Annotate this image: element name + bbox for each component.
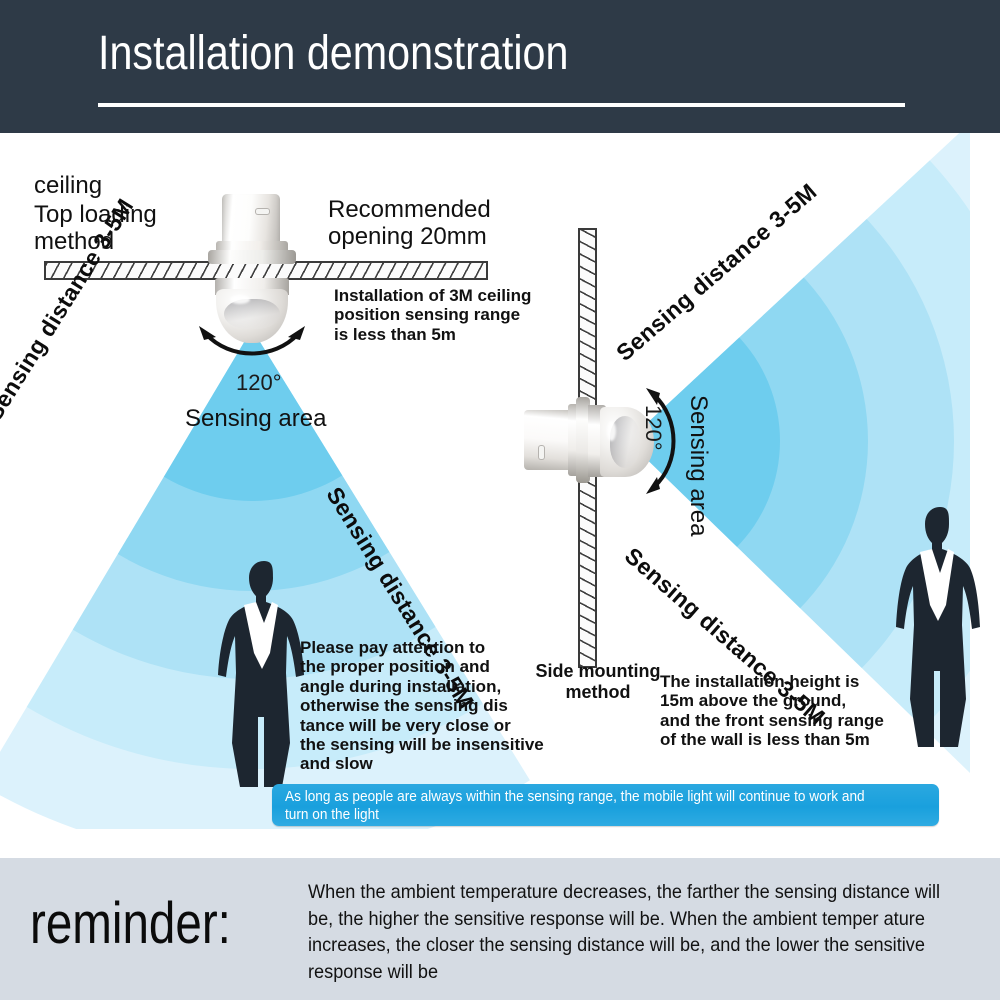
reminder-footer: reminder: When the ambient temperature d… xyxy=(0,858,1000,1000)
ceiling-sensor-flange xyxy=(208,250,296,264)
ceiling-mount-diagram: 120° Sensing area Sensing distance 3-5M … xyxy=(0,133,560,858)
banner-text: As long as people are always within the … xyxy=(285,789,888,824)
wall-height-note: The installation height is 15m above the… xyxy=(660,672,884,750)
header-divider xyxy=(98,103,905,107)
top-loading-method-label: Top loading method xyxy=(34,201,157,256)
wall-mount-diagram: 120° Sensing area Sensing distance 3-5M … xyxy=(500,133,1000,858)
recommended-opening-note: Recommended opening 20mm xyxy=(328,196,491,251)
reminder-body-text: When the ambient temperature decreases, … xyxy=(308,879,959,985)
diagram-canvas: 120° Sensing area Sensing distance 3-5M … xyxy=(0,133,1000,858)
reminder-label: reminder: xyxy=(30,890,231,957)
angle-arc-left-icon xyxy=(196,326,308,366)
angle-label-left: 120° xyxy=(236,370,282,396)
sensing-area-label-left: Sensing area xyxy=(185,405,326,433)
angle-label-right: 120° xyxy=(640,405,666,451)
page-title: Installation demonstration xyxy=(98,26,568,81)
page-header: Installation demonstration xyxy=(0,0,1000,133)
installation-demonstration-page: Installation demonstration xyxy=(0,0,1000,1000)
person-silhouette-right xyxy=(886,503,994,751)
side-mounting-method-label: Side mounting method xyxy=(530,661,666,702)
ceiling-label: ceiling xyxy=(34,172,102,199)
sensing-range-banner: As long as people are always within the … xyxy=(272,784,939,826)
sensing-area-label-right: Sensing area xyxy=(684,395,712,536)
